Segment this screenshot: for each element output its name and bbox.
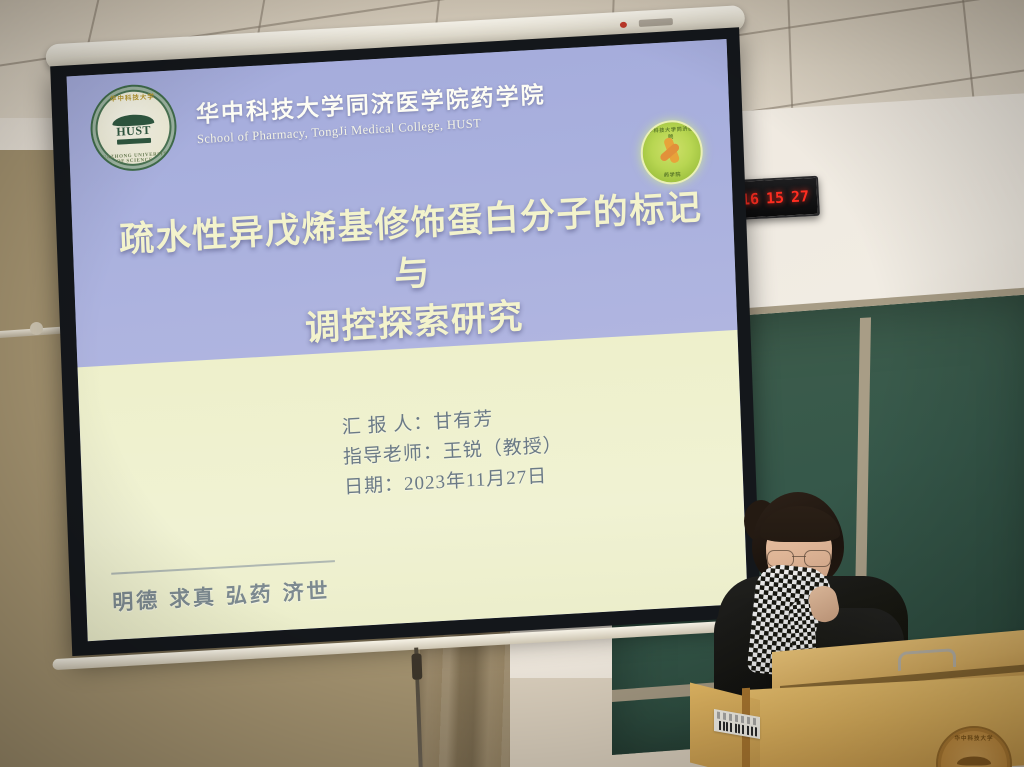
lectern-emblem-arc: 华中科技大学 bbox=[938, 734, 1010, 742]
projection-screen-assembly: 华中科技大学 HUST HUAZHONG UNIVERSITY OF SCIEN… bbox=[22, 22, 758, 672]
glasses-lens-right bbox=[804, 550, 831, 567]
housing-label bbox=[639, 18, 673, 27]
lectern-emblem-hat-shape bbox=[957, 757, 991, 766]
lecture-hall-photo: 16 15 27 华中科技大学 HUST HUAZHON bbox=[0, 0, 1024, 767]
pharmacy-school-logo-icon: 华中科技大学同济医学院 药学院 bbox=[640, 119, 704, 186]
clock-seconds: 27 bbox=[791, 187, 810, 206]
clock-minutes: 15 bbox=[766, 189, 785, 208]
seal-inner: HUST bbox=[110, 113, 157, 146]
lectern-handle bbox=[898, 648, 956, 671]
university-seal-icon: 华中科技大学 HUST HUAZHONG UNIVERSITY OF SCIEN… bbox=[89, 82, 178, 173]
glasses-icon bbox=[766, 550, 832, 566]
seal-bar-shape bbox=[117, 137, 151, 144]
power-indicator-icon bbox=[620, 22, 627, 28]
screen-frame: 华中科技大学 HUST HUAZHONG UNIVERSITY OF SCIEN… bbox=[50, 27, 761, 656]
presenter-info-block: 汇 报 人：甘有芳 指导老师：王锐（教授） 日期：2023年11月27日 bbox=[341, 401, 564, 503]
screen-pull-handle bbox=[411, 653, 422, 680]
presentation-slide: 华中科技大学 HUST HUAZHONG UNIVERSITY OF SCIEN… bbox=[67, 39, 748, 641]
